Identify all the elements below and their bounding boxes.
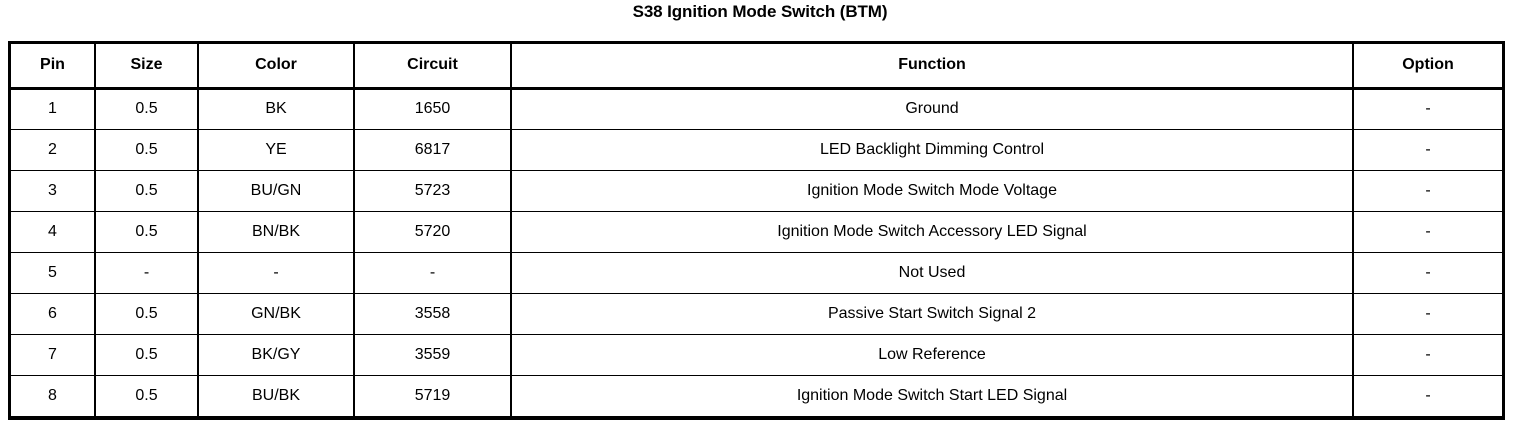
cell-function: LED Backlight Dimming Control xyxy=(511,129,1353,170)
cell-option: - xyxy=(1353,211,1502,252)
table-row: 60.5GN/BK3558Passive Start Switch Signal… xyxy=(11,293,1502,334)
cell-size: 0.5 xyxy=(95,334,198,375)
cell-circuit: 5720 xyxy=(354,211,511,252)
cell-color: YE xyxy=(198,129,354,170)
column-header-color: Color xyxy=(198,44,354,88)
cell-color: BU/GN xyxy=(198,170,354,211)
cell-circuit: 3559 xyxy=(354,334,511,375)
cell-size: - xyxy=(95,252,198,293)
table-row: 40.5BN/BK5720Ignition Mode Switch Access… xyxy=(11,211,1502,252)
cell-option: - xyxy=(1353,170,1502,211)
cell-function: Not Used xyxy=(511,252,1353,293)
cell-option: - xyxy=(1353,293,1502,334)
cell-option: - xyxy=(1353,334,1502,375)
cell-color: - xyxy=(198,252,354,293)
column-header-size: Size xyxy=(95,44,198,88)
table-body: 10.5BK1650Ground-20.5YE6817LED Backlight… xyxy=(11,88,1502,416)
column-header-pin: Pin xyxy=(11,44,95,88)
table-header-row: Pin Size Color Circuit Function Option xyxy=(11,44,1502,88)
cell-color: BK/GY xyxy=(198,334,354,375)
cell-pin: 4 xyxy=(11,211,95,252)
table-row: 70.5BK/GY3559Low Reference- xyxy=(11,334,1502,375)
cell-pin: 7 xyxy=(11,334,95,375)
column-header-circuit: Circuit xyxy=(354,44,511,88)
table-row: 20.5YE6817LED Backlight Dimming Control- xyxy=(11,129,1502,170)
table-row: 5---Not Used- xyxy=(11,252,1502,293)
cell-pin: 6 xyxy=(11,293,95,334)
cell-option: - xyxy=(1353,375,1502,416)
pin-assignment-table: Pin Size Color Circuit Function Option 1… xyxy=(11,44,1502,416)
cell-size: 0.5 xyxy=(95,170,198,211)
cell-pin: 5 xyxy=(11,252,95,293)
cell-pin: 3 xyxy=(11,170,95,211)
table-row: 80.5BU/BK5719Ignition Mode Switch Start … xyxy=(11,375,1502,416)
page-root: S38 Ignition Mode Switch (BTM) Pin Size … xyxy=(0,0,1520,432)
cell-color: BN/BK xyxy=(198,211,354,252)
cell-size: 0.5 xyxy=(95,375,198,416)
cell-size: 0.5 xyxy=(95,293,198,334)
pin-table-container: Pin Size Color Circuit Function Option 1… xyxy=(8,41,1505,420)
table-header: Pin Size Color Circuit Function Option xyxy=(11,44,1502,88)
cell-color: BK xyxy=(198,88,354,129)
cell-function: Passive Start Switch Signal 2 xyxy=(511,293,1353,334)
cell-option: - xyxy=(1353,88,1502,129)
cell-circuit: - xyxy=(354,252,511,293)
cell-function: Ground xyxy=(511,88,1353,129)
cell-color: BU/BK xyxy=(198,375,354,416)
cell-circuit: 6817 xyxy=(354,129,511,170)
cell-circuit: 5719 xyxy=(354,375,511,416)
cell-color: GN/BK xyxy=(198,293,354,334)
cell-function: Ignition Mode Switch Accessory LED Signa… xyxy=(511,211,1353,252)
cell-circuit: 1650 xyxy=(354,88,511,129)
cell-circuit: 3558 xyxy=(354,293,511,334)
cell-size: 0.5 xyxy=(95,88,198,129)
column-header-function: Function xyxy=(511,44,1353,88)
page-title: S38 Ignition Mode Switch (BTM) xyxy=(0,1,1520,23)
cell-circuit: 5723 xyxy=(354,170,511,211)
cell-pin: 2 xyxy=(11,129,95,170)
cell-function: Ignition Mode Switch Mode Voltage xyxy=(511,170,1353,211)
cell-option: - xyxy=(1353,129,1502,170)
table-row: 10.5BK1650Ground- xyxy=(11,88,1502,129)
cell-function: Ignition Mode Switch Start LED Signal xyxy=(511,375,1353,416)
cell-option: - xyxy=(1353,252,1502,293)
table-row: 30.5BU/GN5723Ignition Mode Switch Mode V… xyxy=(11,170,1502,211)
cell-function: Low Reference xyxy=(511,334,1353,375)
cell-pin: 8 xyxy=(11,375,95,416)
cell-size: 0.5 xyxy=(95,211,198,252)
cell-pin: 1 xyxy=(11,88,95,129)
cell-size: 0.5 xyxy=(95,129,198,170)
column-header-option: Option xyxy=(1353,44,1502,88)
